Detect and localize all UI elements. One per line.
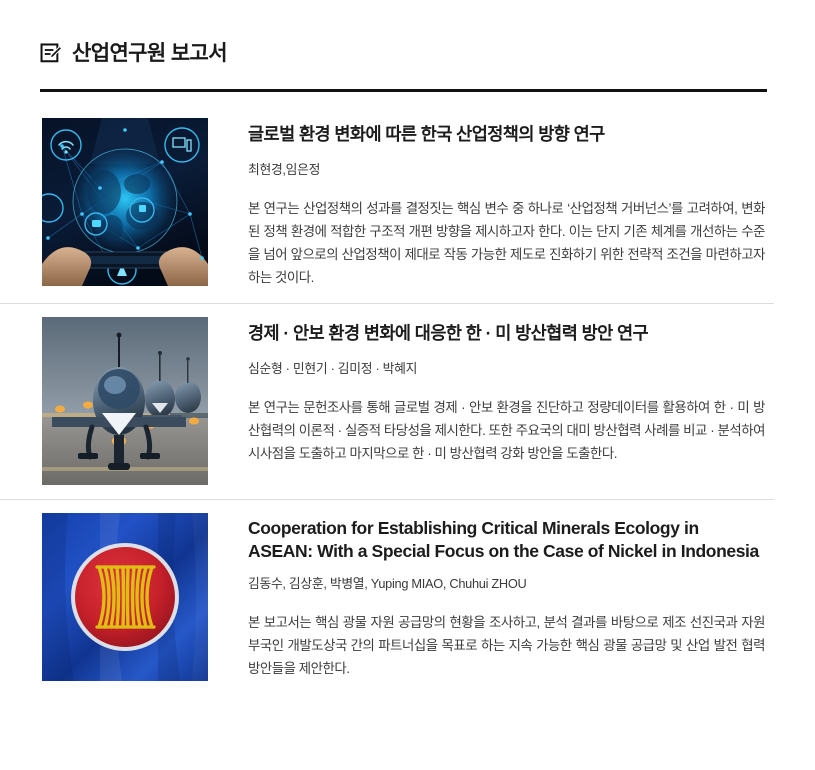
article-title[interactable]: Cooperation for Establishing Critical Mi… — [248, 517, 767, 564]
article-body: 글로벌 환경 변화에 따른 한국 산업정책의 방향 연구 최현경,임은정 본 연… — [208, 118, 767, 289]
article-item[interactable]: 글로벌 환경 변화에 따른 한국 산업정책의 방향 연구 최현경,임은정 본 연… — [0, 104, 815, 303]
article-body: 경제 · 안보 환경 변화에 대응한 한 · 미 방산협력 방안 연구 심순형 … — [208, 317, 767, 465]
report-article-list: 글로벌 환경 변화에 따른 한국 산업정책의 방향 연구 최현경,임은정 본 연… — [0, 104, 815, 695]
report-list-page: 산업연구원 보고서 — [0, 0, 815, 770]
article-authors: 최현경,임은정 — [248, 161, 767, 179]
article-description: 본 보고서는 핵심 광물 자원 공급망의 현황을 조사하고, 분석 결과를 바탕… — [248, 611, 767, 680]
article-item[interactable]: 경제 · 안보 환경 변화에 대응한 한 · 미 방산협력 방안 연구 심순형 … — [0, 303, 815, 499]
digital-globe-network-thumbnail[interactable] — [42, 118, 208, 286]
article-authors: 심순형 · 민현기 · 김미정 · 박혜지 — [248, 360, 767, 378]
asean-flag-thumbnail[interactable] — [42, 513, 208, 681]
fighter-jets-runway-thumbnail[interactable] — [42, 317, 208, 485]
article-item[interactable]: Cooperation for Establishing Critical Mi… — [0, 499, 815, 695]
article-title[interactable]: 경제 · 안보 환경 변화에 대응한 한 · 미 방산협력 방안 연구 — [248, 321, 767, 346]
section-header: 산업연구원 보고서 — [40, 42, 227, 65]
article-body: Cooperation for Establishing Critical Mi… — [208, 513, 767, 681]
article-description: 본 연구는 문헌조사를 통해 글로벌 경제 · 안보 환경을 진단하고 정량데이… — [248, 396, 767, 465]
page-title: 산업연구원 보고서 — [72, 43, 227, 64]
article-description: 본 연구는 산업정책의 성과를 결정짓는 핵심 변수 중 하나로 ‘산업정책 거… — [248, 197, 767, 289]
article-authors: 김동수, 김상훈, 박병열, Yuping MIAO, Chuhui ZHOU — [248, 575, 767, 593]
article-title[interactable]: 글로벌 환경 변화에 따른 한국 산업정책의 방향 연구 — [248, 122, 767, 147]
document-edit-icon — [40, 42, 63, 65]
header-rule — [40, 89, 767, 92]
